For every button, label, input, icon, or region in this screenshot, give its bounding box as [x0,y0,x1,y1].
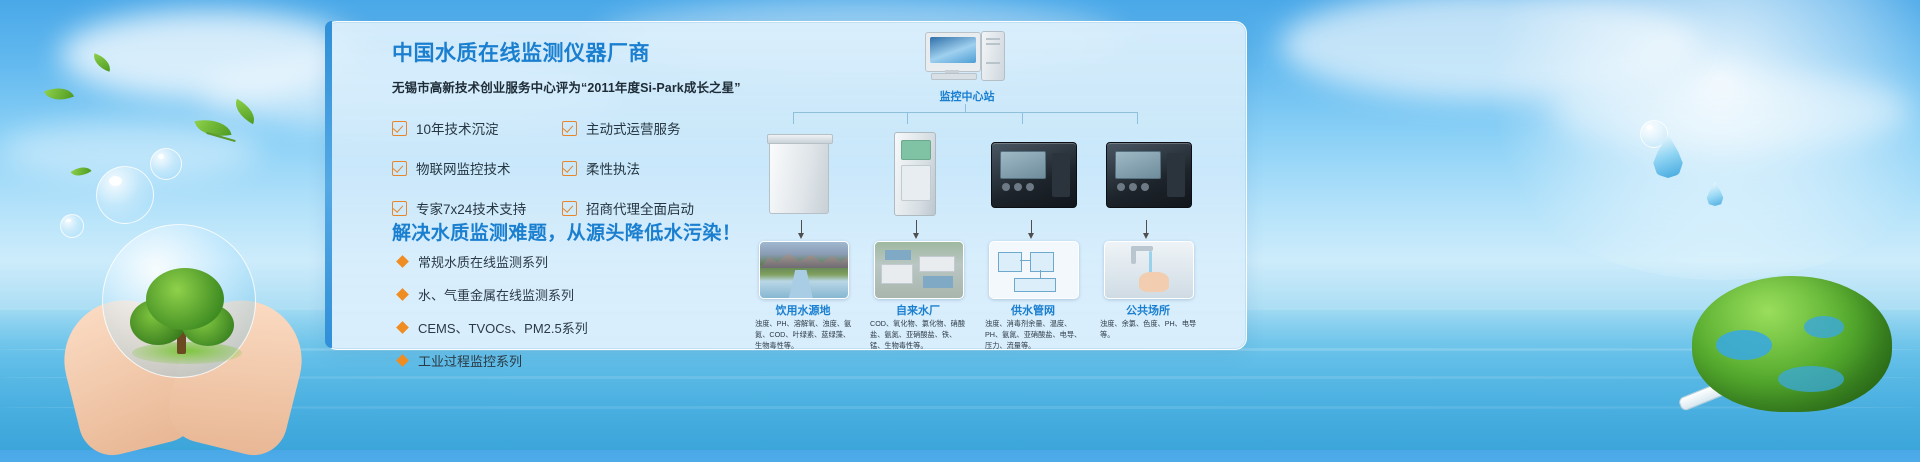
checklist-item: 招商代理全面启动 [562,198,722,218]
down-arrow-icon [801,220,802,234]
monitor-icon [925,32,981,72]
checklist-label: 专家7x24技术支持 [416,198,526,218]
diamond-bullet-icon [396,321,409,334]
list-item-label: 水、气重金属在线监测系列 [418,285,574,304]
list-item-label: 常规水质在线监测系列 [418,252,548,271]
check-icon [562,201,577,216]
node-label: 饮用水源地 [755,302,851,318]
tree-foliage [146,268,224,330]
grass-base [132,342,242,364]
node-label: 自来水厂 [870,302,966,318]
connector-horizontal-line [793,112,1137,113]
connector-vertical-line [965,104,966,112]
checklist-item: 专家7x24技术支持 [392,198,552,218]
checklist-label: 物联网监控技术 [416,158,511,178]
list-item: 水、气重金属在线监测系列 [398,285,728,304]
leaf-icon [90,53,113,72]
monitoring-topology-diagram: 监控中心站 饮用水源地 浊度、PH、溶解氧、浊度、氨氮、COD、叶绿素、蓝绿藻、… [755,26,1225,326]
device-controller-icon [985,124,1081,214]
control-center-computer-icon [925,32,1005,84]
hands-holding-globe [60,260,320,450]
check-icon [392,201,407,216]
node-description: COD、氧化物、氯化物、硝酸盐、氨氮、亚硝酸盐、铁、锰、生物毒性等。 [870,318,970,351]
product-series-list: 常规水质在线监测系列 水、气重金属在线监测系列 CEMS、TVOCs、PM2.5… [398,252,728,384]
connector-vertical-line [1022,112,1023,124]
tap-photo [1104,241,1194,299]
monitor-screen [930,37,976,63]
checklist-item: 柔性执法 [562,158,722,178]
diagram-photo [989,241,1079,299]
list-item: 常规水质在线监测系列 [398,252,728,271]
green-earth-illustration [1692,276,1892,416]
down-arrow-icon [1146,220,1147,234]
river-photo [759,241,849,299]
leaf-icon [230,99,260,124]
monitor-base [931,73,977,80]
checklist-item: 物联网监控技术 [392,158,552,178]
plant-photo [874,241,964,299]
page-subtitle: 无锡市高新技术创业服务中心评为“2011年度Si-Park成长之星” [392,77,752,96]
checklist-item: 主动式运营服务 [562,118,722,138]
node-label: 公共场所 [1100,302,1196,318]
check-icon [562,121,577,136]
checklist-item: 10年技术沉淀 [392,118,552,138]
bubble-decoration [96,166,154,224]
bubble-decoration [60,214,84,238]
device-analyzer-icon [870,124,966,214]
center-station-label: 监控中心站 [887,88,1047,104]
connector-vertical-line [1137,112,1138,124]
connector-vertical-line [793,112,794,124]
list-item: CEMS、TVOCs、PM2.5系列 [398,318,728,337]
bubble-decoration [150,148,182,180]
section-heading: 解决水质监测难题，从源头降低水污染！ [392,218,741,245]
node-description: 浊度、PH、溶解氧、浊度、氨氮、COD、叶绿素、蓝绿藻、生物毒性等。 [755,318,855,351]
sun-glow [1460,0,1920,280]
list-item-label: CEMS、TVOCs、PM2.5系列 [418,318,588,337]
list-item-label: 工业过程监控系列 [418,351,522,370]
device-controller-icon [1100,124,1196,214]
left-copy-block: 中国水质在线监测仪器厂商 无锡市高新技术创业服务中心评为“2011年度Si-Pa… [392,40,752,96]
check-icon [392,121,407,136]
device-cabinet-icon [755,124,851,214]
node-description: 浊度、余氯、色度、PH、电导等。 [1100,318,1200,340]
node-description: 浊度、消毒剂余量、温度、PH、氨氮、亚硝酸盐、电导、压力、流量等。 [985,318,1085,351]
pc-tower-icon [981,31,1005,81]
node-label: 供水管网 [985,302,1081,318]
checklist-label: 招商代理全面启动 [586,198,694,218]
diamond-bullet-icon [396,288,409,301]
diamond-bullet-icon [396,354,409,367]
checklist-label: 主动式运营服务 [586,118,681,138]
check-icon [392,161,407,176]
checklist-label: 柔性执法 [586,158,640,178]
page-title: 中国水质在线监测仪器厂商 [392,40,752,67]
feature-checklist: 10年技术沉淀 主动式运营服务 物联网监控技术 柔性执法 专家7x24技术支持 … [392,118,722,218]
diamond-bullet-icon [396,255,409,268]
cloud-decoration [60,10,360,100]
panel-left-accent-bar [325,21,332,348]
checklist-label: 10年技术沉淀 [416,118,499,138]
list-item: 工业过程监控系列 [398,351,728,370]
check-icon [562,161,577,176]
down-arrow-icon [1031,220,1032,234]
leaf-icon [70,162,91,181]
down-arrow-icon [916,220,917,234]
leaf-icon [44,82,74,107]
connector-vertical-line [907,112,908,124]
